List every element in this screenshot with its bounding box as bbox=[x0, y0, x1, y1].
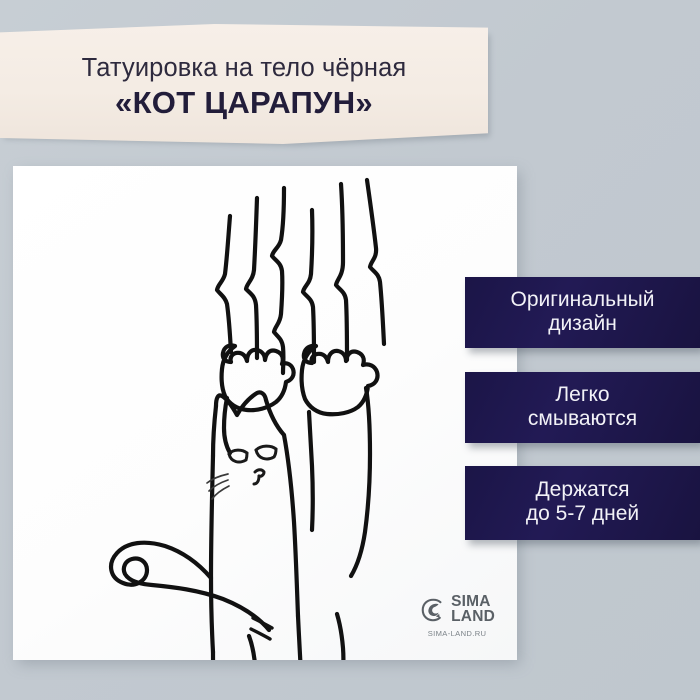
logo-word-land: LAND bbox=[451, 610, 495, 625]
scratch-mark-5 bbox=[336, 184, 347, 360]
feature-badge-original-design: Оригинальный дизайн bbox=[465, 277, 700, 348]
cat-head-left-side bbox=[213, 406, 216, 456]
scratch-mark-6 bbox=[367, 180, 384, 344]
right-arm-outer bbox=[351, 388, 370, 576]
scratching-cat-illustration bbox=[13, 166, 517, 660]
scratch-mark-4 bbox=[303, 210, 314, 362]
cat-hind-leg-right-inner bbox=[337, 614, 343, 660]
header-ribbon: Татуировка на тело чёрная «КОТ ЦАРАПУН» bbox=[0, 24, 492, 146]
product-promo-image: Татуировка на тело чёрная «КОТ ЦАРАПУН» bbox=[0, 0, 700, 700]
cat-mouth bbox=[254, 476, 259, 484]
scratch-mark-3 bbox=[272, 188, 284, 373]
sima-land-logo: SIMA LAND SIMA-LAND.RU bbox=[419, 595, 495, 638]
cat-hind-leg-left-inner bbox=[249, 636, 256, 660]
cat-right-eye bbox=[256, 449, 276, 459]
feature-badge-duration: Держатся до 5-7 дней bbox=[465, 466, 700, 540]
feature-badge-text: Держатся до 5-7 дней bbox=[526, 478, 639, 525]
dolphin-circle-icon bbox=[419, 597, 445, 623]
cat-left-eyelid bbox=[229, 450, 247, 454]
cat-left-eye bbox=[229, 453, 247, 462]
cat-right-eyelid bbox=[256, 446, 276, 450]
scratch-mark-1 bbox=[217, 216, 231, 352]
product-title: «КОТ ЦАРАПУН» bbox=[115, 85, 373, 121]
feature-badge-easy-wash: Легко смываются bbox=[465, 372, 700, 443]
logo-url: SIMA-LAND.RU bbox=[428, 629, 487, 638]
product-card: SIMA LAND SIMA-LAND.RU bbox=[13, 166, 517, 660]
cat-hind-leg-right bbox=[298, 616, 340, 660]
feature-badge-text: Оригинальный дизайн bbox=[510, 288, 654, 335]
cat-tail bbox=[111, 543, 269, 630]
cat-body-left-side bbox=[211, 456, 213, 652]
cat-whisker-3 bbox=[212, 486, 229, 499]
cat-fur-tick-1 bbox=[253, 618, 272, 628]
cat-body-right-side bbox=[284, 435, 298, 616]
product-subtitle: Татуировка на тело чёрная bbox=[82, 54, 407, 83]
scratch-mark-2 bbox=[246, 198, 257, 358]
feature-badge-text: Легко смываются bbox=[528, 383, 637, 430]
right-arm-inner bbox=[309, 412, 313, 530]
cat-hind-leg-left bbox=[213, 652, 253, 660]
